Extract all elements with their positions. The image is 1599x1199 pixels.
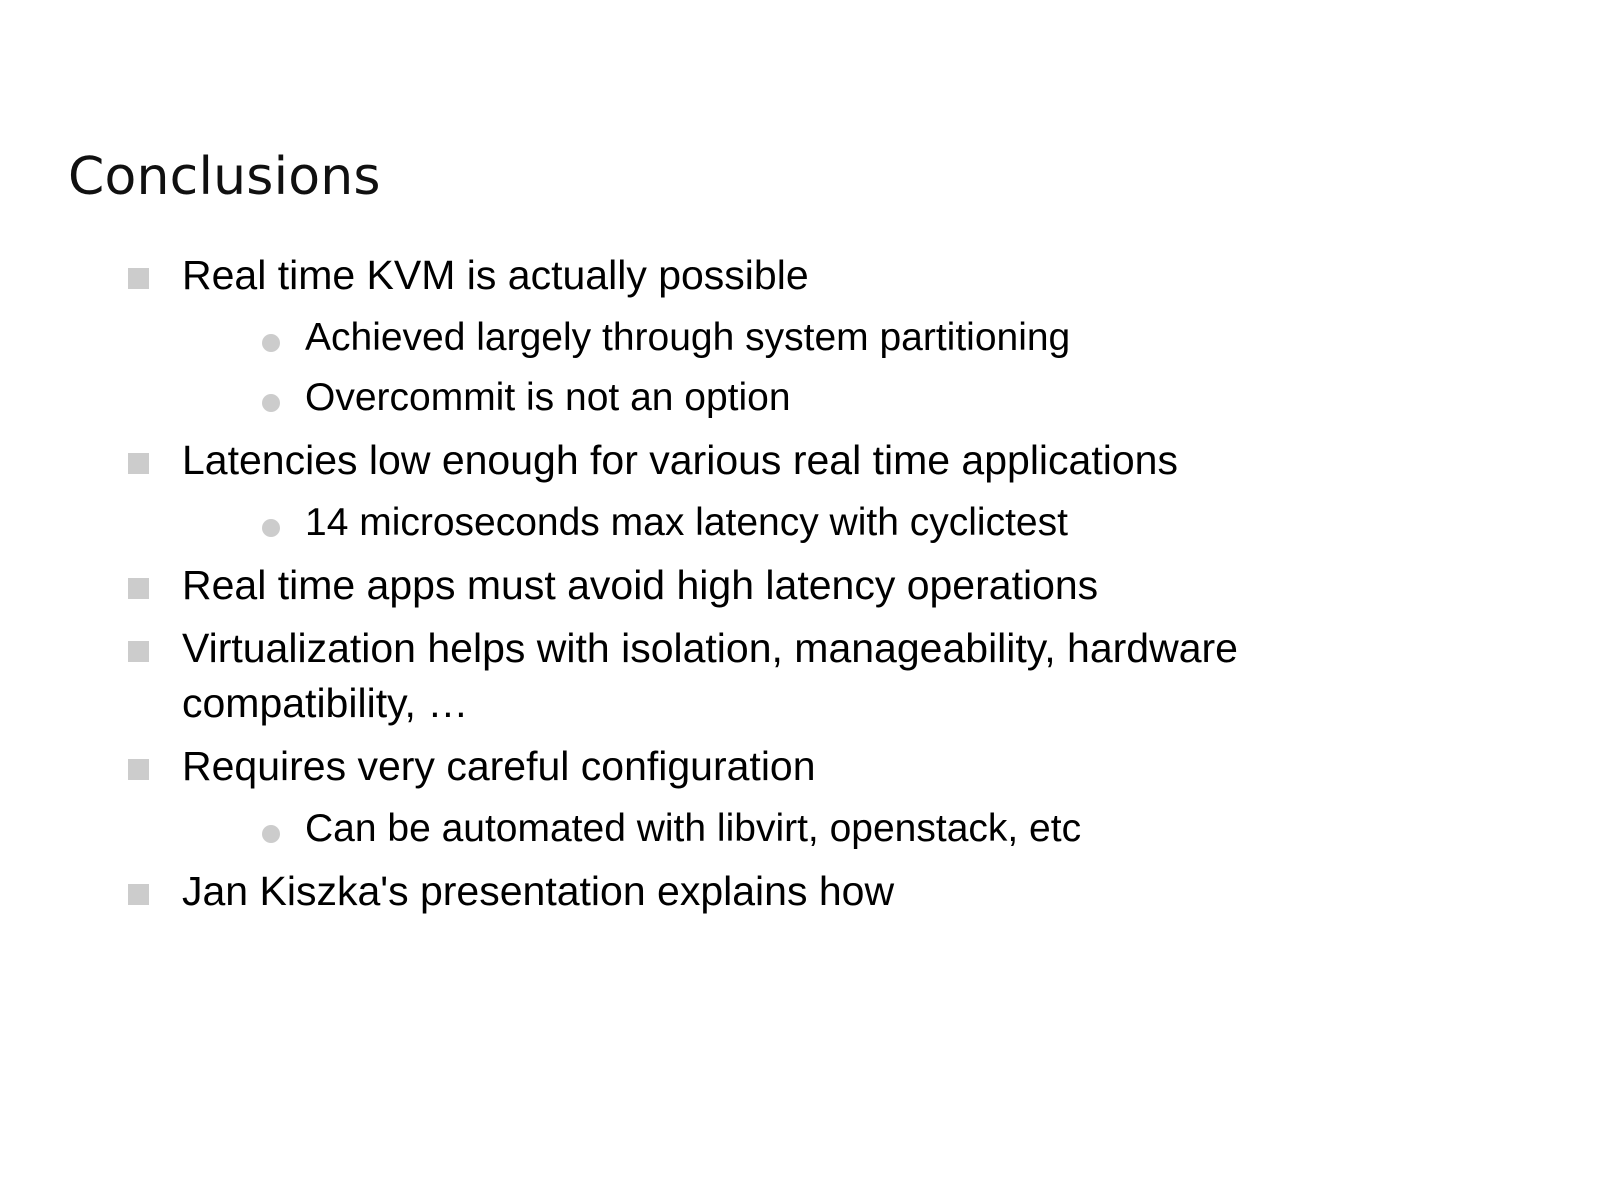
bullet-list: Real time KVM is actually possibleAchiev…	[0, 248, 1599, 927]
bullet-text: Overcommit is not an option	[305, 372, 1409, 424]
round-bullet-icon	[262, 519, 280, 537]
round-bullet-icon	[262, 334, 280, 352]
bullet-text: Virtualization helps with isolation, man…	[182, 621, 1409, 730]
bullet-text: 14 microseconds max latency with cyclict…	[305, 497, 1409, 549]
square-bullet-icon	[128, 884, 149, 905]
bullet-item-level-1: Requires very careful configuration	[0, 739, 1599, 794]
bullet-item-level-1: Latencies low enough for various real ti…	[0, 433, 1599, 488]
page-title: Conclusions	[68, 150, 381, 205]
bullet-item-level-1: Virtualization helps with isolation, man…	[0, 621, 1599, 730]
bullet-text: Requires very careful configuration	[182, 739, 1409, 794]
bullet-item-level-1: Real time KVM is actually possible	[0, 248, 1599, 303]
bullet-item-level-2: 14 microseconds max latency with cyclict…	[0, 497, 1599, 549]
bullet-text: Achieved largely through system partitio…	[305, 312, 1409, 364]
square-bullet-icon	[128, 578, 149, 599]
bullet-text: Real time KVM is actually possible	[182, 248, 1409, 303]
bullet-text: Real time apps must avoid high latency o…	[182, 558, 1409, 613]
bullet-item-level-2: Achieved largely through system partitio…	[0, 312, 1599, 364]
bullet-item-level-2: Overcommit is not an option	[0, 372, 1599, 424]
bullet-text: Latencies low enough for various real ti…	[182, 433, 1409, 488]
square-bullet-icon	[128, 759, 149, 780]
bullet-item-level-2: Can be automated with libvirt, openstack…	[0, 803, 1599, 855]
bullet-item-level-1: Jan Kiszka's presentation explains how	[0, 864, 1599, 919]
slide-canvas: Conclusions Real time KVM is actually po…	[0, 0, 1599, 1199]
bullet-text: Can be automated with libvirt, openstack…	[305, 803, 1409, 855]
bullet-text: Jan Kiszka's presentation explains how	[182, 864, 1409, 919]
square-bullet-icon	[128, 641, 149, 662]
round-bullet-icon	[262, 394, 280, 412]
square-bullet-icon	[128, 268, 149, 289]
round-bullet-icon	[262, 825, 280, 843]
square-bullet-icon	[128, 453, 149, 474]
bullet-item-level-1: Real time apps must avoid high latency o…	[0, 558, 1599, 613]
